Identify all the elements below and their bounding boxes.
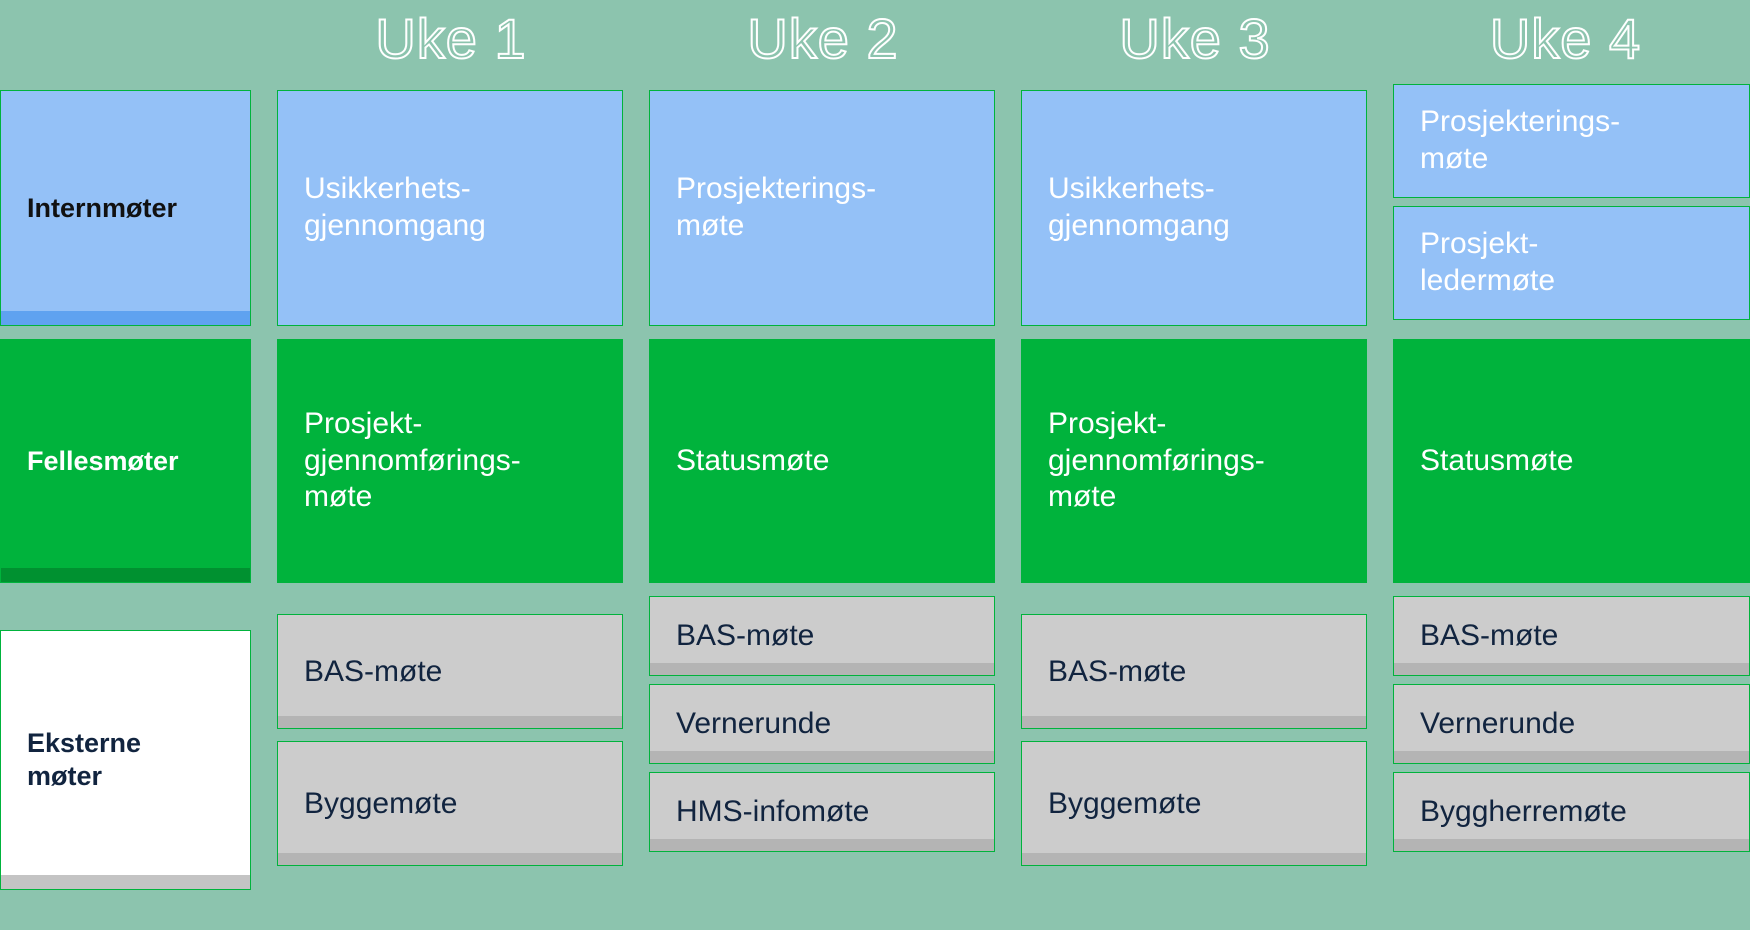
cell-eksterne-uke1[interactable]: BAS-møte Byggemøte: [265, 590, 637, 930]
meeting-card-prosjekteringsmote-w2[interactable]: Prosjekterings-møte: [649, 90, 995, 326]
meeting-card-label: Byggherremøte: [1420, 794, 1627, 830]
week-header-3-label: Uke 3: [1119, 11, 1270, 67]
row-label-cell-fellesmoter: Fellesmøter: [0, 332, 265, 590]
week-header-2-label: Uke 2: [747, 11, 898, 67]
row-label-internmoter-text: Internmøter: [27, 192, 224, 225]
meeting-card-statusmote-w4[interactable]: Statusmøte: [1393, 339, 1750, 583]
row-label-eksterne-moter-text: Eksternemøter: [27, 727, 224, 793]
meeting-card-hms-infomote-w2[interactable]: HMS-infomøte: [649, 772, 995, 852]
cell-eksterne-uke4[interactable]: BAS-møte Vernerunde Byggherremøte: [1381, 590, 1750, 930]
meeting-card-bas-mote-w4[interactable]: BAS-møte: [1393, 596, 1750, 676]
meeting-card-label: BAS-møte: [676, 618, 814, 654]
card-shadow-strip: [1, 311, 250, 325]
card-shadow-strip: [1394, 839, 1749, 851]
cell-internmoter-uke3[interactable]: Usikkerhets-gjennomgang: [1009, 84, 1381, 332]
card-stack-uke4: BAS-møte Vernerunde Byggherremøte: [1393, 590, 1750, 852]
meeting-card-byggemote-w3[interactable]: Byggemøte: [1021, 741, 1367, 866]
week-header-4-label: Uke 4: [1490, 11, 1641, 67]
meeting-card-label: BAS-møte: [1048, 654, 1186, 690]
card-shadow-strip: [1022, 716, 1366, 728]
meeting-card-byggherremote-w4[interactable]: Byggherremøte: [1393, 772, 1750, 852]
week-header-3: Uke 3: [1009, 0, 1381, 84]
meeting-card-usikkerhetsgjennomgang-w1[interactable]: Usikkerhets-gjennomgang: [277, 90, 623, 326]
week-header-1: Uke 1: [265, 0, 637, 84]
meeting-card-prosjektgjennomforingsmote-w1[interactable]: Prosjekt-gjennomførings-møte: [277, 339, 623, 583]
meeting-card-vernerunde-w2[interactable]: Vernerunde: [649, 684, 995, 764]
cell-fellesmoter-uke3[interactable]: Prosjekt-gjennomførings-møte: [1009, 332, 1381, 590]
card-stack-uke2: BAS-møte Vernerunde HMS-infomøte: [649, 590, 995, 852]
meeting-card-label: HMS-infomøte: [676, 794, 869, 830]
meeting-card-label: Statusmøte: [676, 443, 968, 480]
card-shadow-strip: [650, 663, 994, 675]
cell-eksterne-uke2[interactable]: BAS-møte Vernerunde HMS-infomøte: [637, 590, 1009, 930]
meeting-card-byggemote-w1[interactable]: Byggemøte: [277, 741, 623, 866]
card-stack-uke3: BAS-møte Byggemøte: [1021, 590, 1367, 866]
card-shadow-strip: [1, 568, 250, 582]
row-label-fellesmoter: Fellesmøter: [0, 339, 251, 583]
cell-fellesmoter-uke2[interactable]: Statusmøte: [637, 332, 1009, 590]
week-header-1-label: Uke 1: [375, 11, 526, 67]
meeting-card-usikkerhetsgjennomgang-w3[interactable]: Usikkerhets-gjennomgang: [1021, 90, 1367, 326]
meeting-card-prosjektgjennomforingsmote-w3[interactable]: Prosjekt-gjennomførings-møte: [1021, 339, 1367, 583]
row-label-eksterne-moter: Eksternemøter: [0, 630, 251, 890]
week-header-2: Uke 2: [637, 0, 1009, 84]
meeting-card-label: Prosjekt-gjennomførings-møte: [1048, 406, 1340, 516]
meeting-card-label: Prosjekterings-møte: [676, 171, 968, 244]
meeting-card-label: Usikkerhets-gjennomgang: [1048, 171, 1340, 244]
meeting-card-label: Prosjekterings-møte: [1420, 104, 1723, 177]
card-shadow-strip: [1394, 663, 1749, 675]
card-stack-uke1: BAS-møte Byggemøte: [277, 590, 623, 866]
header-corner-spacer: [0, 0, 265, 84]
meeting-card-label: BAS-møte: [1420, 618, 1558, 654]
meeting-card-prosjektledermote-w4[interactable]: Prosjekt-ledermøte: [1393, 206, 1750, 320]
cell-internmoter-uke1[interactable]: Usikkerhets-gjennomgang: [265, 84, 637, 332]
row-label-cell-eksterne-moter: Eksternemøter: [0, 590, 265, 930]
meeting-card-label: BAS-møte: [304, 654, 442, 690]
cell-eksterne-uke3[interactable]: BAS-møte Byggemøte: [1009, 590, 1381, 930]
card-shadow-strip: [650, 839, 994, 851]
cell-fellesmoter-uke4[interactable]: Statusmøte: [1381, 332, 1750, 590]
meeting-card-label: Vernerunde: [1420, 706, 1575, 742]
card-shadow-strip: [1, 875, 250, 889]
meeting-card-label: Prosjekt-ledermøte: [1420, 226, 1723, 299]
card-shadow-strip: [278, 853, 622, 865]
cell-fellesmoter-uke1[interactable]: Prosjekt-gjennomførings-møte: [265, 332, 637, 590]
card-shadow-strip: [1022, 853, 1366, 865]
meeting-card-label: Usikkerhets-gjennomgang: [304, 171, 596, 244]
meeting-card-prosjekteringsmote-w4[interactable]: Prosjekterings-møte: [1393, 84, 1750, 198]
card-shadow-strip: [1394, 751, 1749, 763]
cell-internmoter-uke4[interactable]: Prosjekterings-møte Prosjekt-ledermøte: [1381, 84, 1750, 332]
meeting-card-bas-mote-w1[interactable]: BAS-møte: [277, 614, 623, 729]
meeting-card-label: Prosjekt-gjennomførings-møte: [304, 406, 596, 516]
meeting-plan-board: Uke 1 Uke 2 Uke 3 Uke 4 Internmøter Usik…: [0, 0, 1750, 930]
card-shadow-strip: [650, 751, 994, 763]
meeting-card-label: Byggemøte: [1048, 786, 1201, 822]
meeting-card-statusmote-w2[interactable]: Statusmøte: [649, 339, 995, 583]
meeting-card-vernerunde-w4[interactable]: Vernerunde: [1393, 684, 1750, 764]
row-label-cell-internmoter: Internmøter: [0, 84, 265, 332]
cell-internmoter-uke2[interactable]: Prosjekterings-møte: [637, 84, 1009, 332]
meeting-card-bas-mote-w3[interactable]: BAS-møte: [1021, 614, 1367, 729]
week-header-4: Uke 4: [1381, 0, 1750, 84]
meeting-card-label: Vernerunde: [676, 706, 831, 742]
row-label-internmoter: Internmøter: [0, 90, 251, 326]
meeting-card-label: Byggemøte: [304, 786, 457, 822]
card-shadow-strip: [278, 716, 622, 728]
meeting-card-bas-mote-w2[interactable]: BAS-møte: [649, 596, 995, 676]
meeting-card-label: Statusmøte: [1420, 443, 1723, 480]
row-label-fellesmoter-text: Fellesmøter: [27, 445, 224, 478]
